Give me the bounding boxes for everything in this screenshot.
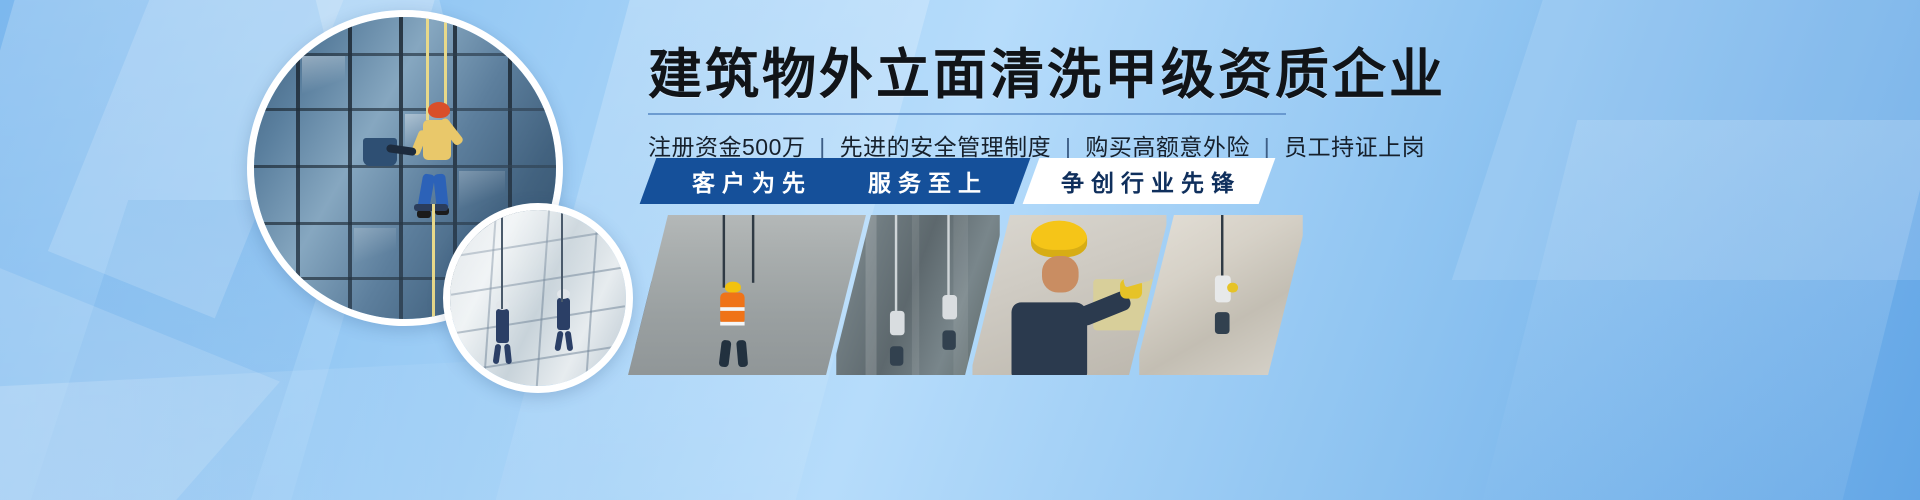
page-title: 建筑物外立面清洗甲级资质企业 <box>648 46 1878 104</box>
subtitle-item-1: 先进的安全管理制度 <box>840 134 1052 160</box>
facade-workers-image <box>450 210 626 386</box>
title-underline <box>648 113 1286 115</box>
promo-banner: 建筑物外立面清洗甲级资质企业 注册资金500万 | 先进的安全管理制度 | 购买… <box>0 0 1920 500</box>
subtitle-item-0: 注册资金500万 <box>648 134 805 160</box>
slogan-bar-accent: 争创行业先锋 <box>1023 158 1276 204</box>
slogan-item-1: 服务至上 <box>868 164 988 198</box>
slogan-bar-primary: 客户为先 服务至上 <box>640 158 1031 204</box>
subtitle-item-2: 购买高额意外险 <box>1085 134 1250 160</box>
subtitle-separator-2: | <box>1264 134 1270 160</box>
subtitle-item-3: 员工持证上岗 <box>1284 134 1425 160</box>
subtitle-separator-1: | <box>1065 134 1071 160</box>
slogan-bar: 客户为先 服务至上 争创行业先锋 <box>648 158 1267 204</box>
slogan-item-0: 客户为先 <box>692 164 812 198</box>
background-shape-polygon-4 <box>0 260 280 500</box>
background-shape-diagonal-7 <box>1463 120 1920 500</box>
photo-strip <box>648 215 1288 375</box>
strip-photo-orange-vest-worker <box>628 215 866 375</box>
slogan-accent-label: 争创行业先锋 <box>1061 164 1241 198</box>
subtitle-separator-0: | <box>819 134 825 160</box>
circle-photo-facade-workers <box>443 203 633 393</box>
copy-block: 建筑物外立面清洗甲级资质企业 注册资金500万 | 先进的安全管理制度 | 购买… <box>648 46 1878 162</box>
